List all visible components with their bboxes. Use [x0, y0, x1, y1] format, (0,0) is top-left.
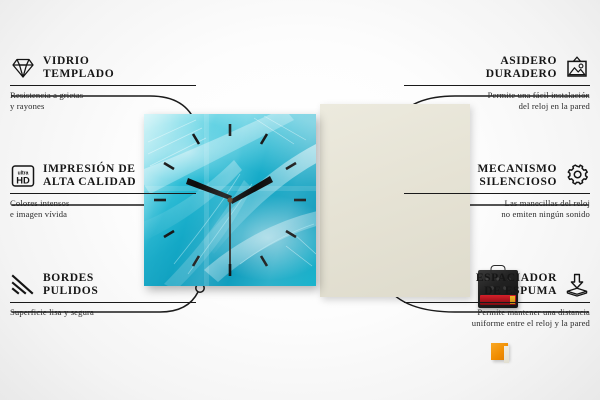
foam-spacer-icon: [564, 272, 590, 298]
feature-title: IMPRESIÓN DE ALTA CALIDAD: [43, 163, 196, 190]
polished-edges-icon: [10, 272, 36, 298]
divider: [10, 193, 196, 194]
feature-impresion-hd: ultra HD IMPRESIÓN DE ALTA CALIDAD Color…: [10, 163, 196, 221]
feature-description: Resistencia a grietas y rayones: [10, 90, 196, 113]
feature-asidero-duradero: ASIDERO DURADERO Permite una fácil insta…: [404, 55, 590, 113]
divider: [404, 85, 590, 86]
divider: [10, 302, 196, 303]
divider: [10, 85, 196, 86]
feature-mecanismo-silencioso: MECANISMO SILENCIOSO Las manecillas del …: [404, 163, 590, 221]
infographic-canvas: VIDRIO TEMPLADO Resistencia a grietas y …: [0, 0, 600, 400]
feature-description: Colores intensos e imagen vívida: [10, 198, 196, 221]
diamond-icon: [10, 55, 36, 81]
hand-cap: [227, 197, 232, 202]
feature-description: Las manecillas del reloj no emiten ningú…: [404, 198, 590, 221]
feature-espaciador-espuma: ESPACIADOR DE ESPUMA Permite mantener un…: [404, 272, 590, 330]
feature-title: ASIDERO DURADERO: [404, 55, 557, 82]
divider: [404, 302, 590, 303]
feature-vidrio-templado: VIDRIO TEMPLADO Resistencia a grietas y …: [10, 55, 196, 113]
gear-icon: [564, 163, 590, 189]
picture-frame-icon: [564, 55, 590, 81]
foam-spacer: [491, 343, 508, 360]
feature-bordes-pulidos: BORDES PULIDOS Superficie lisa y segura: [10, 272, 196, 318]
divider: [404, 193, 590, 194]
feature-title: MECANISMO SILENCIOSO: [404, 163, 557, 190]
feature-title: BORDES PULIDOS: [43, 272, 196, 299]
feature-description: Permite mantener una distancia uniforme …: [404, 307, 590, 330]
ultra-hd-icon: ultra HD: [10, 163, 36, 189]
feature-description: Permite una fácil instalación del reloj …: [404, 90, 590, 113]
feature-title: VIDRIO TEMPLADO: [43, 55, 196, 82]
feature-description: Superficie lisa y segura: [10, 307, 196, 319]
feature-title: ESPACIADOR DE ESPUMA: [404, 272, 557, 299]
ultra-hd-large-text: HD: [16, 175, 30, 186]
